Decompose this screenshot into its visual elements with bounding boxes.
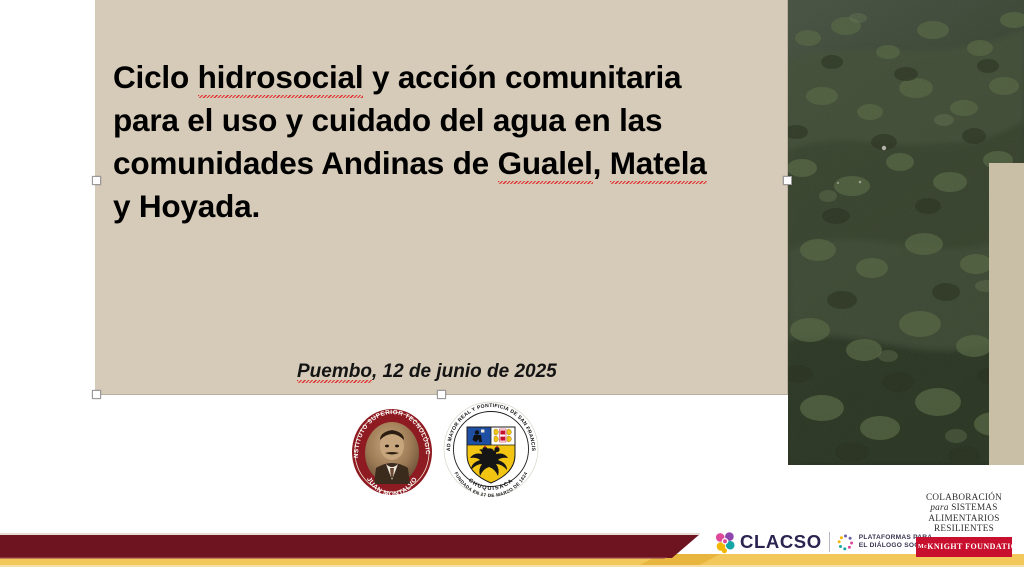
clacso-flower-icon [714, 530, 736, 554]
mcknight-line-2-rest: SISTEMAS [951, 502, 997, 512]
mcknight-line-4: RESILIENTES [916, 523, 1012, 533]
mcknight-badge-mc: Mc [918, 544, 927, 550]
mcknight-line-3: ALIMENTARIOS [916, 513, 1012, 523]
clacso-logo-lockup[interactable]: CLACSO PLATAFORMAS PARA EL DIÁLOGO SOCIA… [714, 529, 932, 555]
title-line-1: Ciclo hidrosocial y acción comunitaria [113, 56, 773, 99]
title-line-2: para el uso y cuidado del agua en las [113, 99, 773, 142]
subtitle-place: Puembo [297, 361, 372, 383]
selection-handle-right[interactable] [783, 176, 792, 185]
selection-handle-bottom-left[interactable] [92, 390, 101, 399]
clacso-divider [829, 532, 830, 552]
mcknight-line-2-italic: para [930, 502, 948, 512]
seal-universidad-san-francisco-xavier[interactable]: UNIVERSIDAD MAYOR REAL Y PONTIFICIA DE S… [441, 399, 541, 497]
subtitle-date[interactable]: Puembo, 12 de junio de 2025 [297, 361, 557, 383]
mcknight-foundation-badge[interactable]: McKNIGHT FOUNDATION [916, 537, 1012, 557]
selection-handle-bottom[interactable] [437, 390, 446, 399]
mcknight-line-2: para SISTEMAS [916, 502, 1012, 512]
selection-handle-left[interactable] [92, 176, 101, 185]
mcknight-logo-lockup[interactable]: COLABORACIÓN para SISTEMAS ALIMENTARIOS … [916, 492, 1012, 557]
slide-canvas: Ciclo hidrosocial y acción comunitaria p… [0, 0, 1024, 573]
clacso-wordmark: CLACSO [740, 533, 822, 552]
title-line-3: comunidades Andinas de Gualel, Matela [113, 142, 773, 185]
tan-accent-block [989, 163, 1024, 465]
page-title[interactable]: Ciclo hidrosocial y acción comunitaria p… [113, 56, 773, 228]
mcknight-badge-text: KNIGHT FOUNDATION [927, 542, 1023, 551]
footer-maroon-bar [0, 533, 700, 559]
mcknight-collaboration-text: COLABORACIÓN para SISTEMAS ALIMENTARIOS … [916, 492, 1012, 534]
title-line-4: y Hoyada. [113, 185, 773, 228]
seal-instituto-juan-montalvo[interactable]: INSTITUTO SUPERIOR TECNOLÓGICO JUAN MONT… [346, 406, 438, 496]
mcknight-line-1: COLABORACIÓN [916, 492, 1012, 502]
dialogue-dots-icon [837, 534, 854, 551]
subtitle-rest: , 12 de junio de 2025 [372, 361, 557, 382]
